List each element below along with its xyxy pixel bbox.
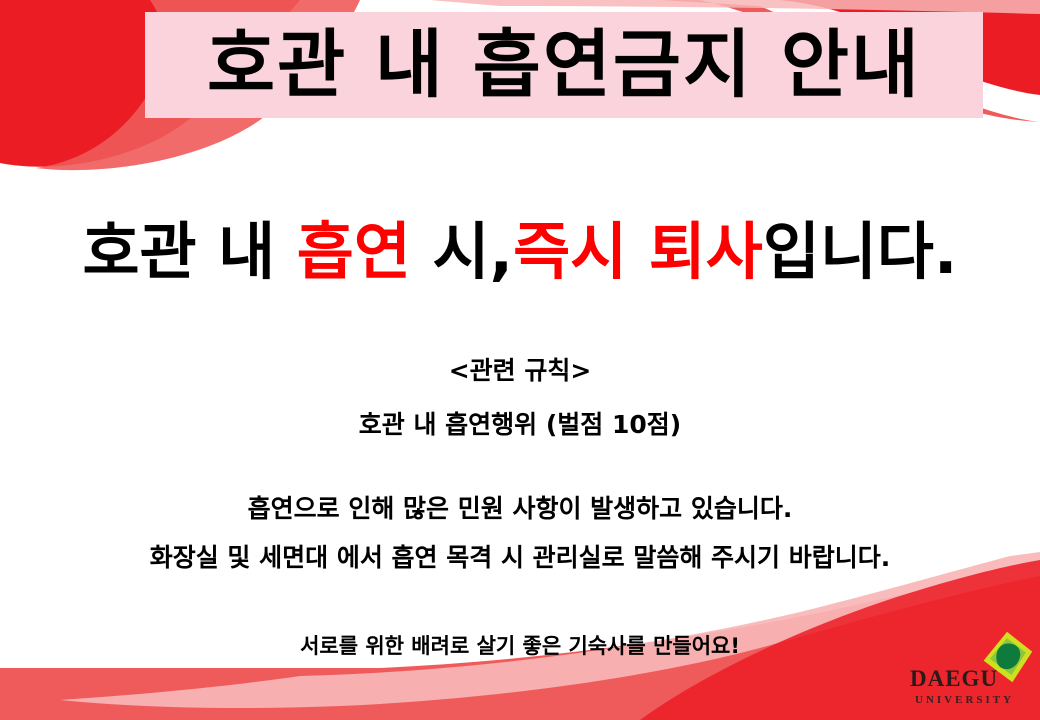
daegu-university-logo: DAEGU UNIVERSITY xyxy=(910,632,1032,710)
closing-slogan: 서로를 위한 배려로 살기 좋은 기숙사를 만들어요! xyxy=(0,630,1040,660)
rules-heading: <관련 규칙> xyxy=(0,352,1040,390)
notice-line-complaints: 흡연으로 인해 많은 민원 사항이 발생하고 있습니다. xyxy=(0,496,1040,521)
headline: 호관 내 흡연 시,즉시 퇴사입니다. xyxy=(0,218,1040,286)
headline-segment-3: 시, xyxy=(411,215,513,288)
logo-wordmark: DAEGU xyxy=(910,666,998,692)
title-banner: 호관 내 흡연금지 안내 xyxy=(145,12,983,118)
notice-line-report: 화장실 및 세면대 에서 흡연 목격 시 관리실로 말씀해 주시기 바랍니다. xyxy=(0,545,1040,570)
poster-canvas: 호관 내 흡연금지 안내 호관 내 흡연 시,즉시 퇴사입니다. <관련 규칙>… xyxy=(0,0,1040,720)
rules-body: 호관 내 흡연행위 (벌점 10점) xyxy=(0,406,1040,444)
page-title: 호관 내 흡연금지 안내 xyxy=(207,28,921,102)
headline-segment-1: 호관 내 xyxy=(82,215,296,288)
related-rules-block: <관련 규칙> 호관 내 흡연행위 (벌점 10점) xyxy=(0,352,1040,443)
notice-block: 흡연으로 인해 많은 민원 사항이 발생하고 있습니다. 화장실 및 세면대 에… xyxy=(0,496,1040,594)
headline-emphasis-immediate-eviction: 즉시 퇴사 xyxy=(513,215,763,288)
headline-emphasis-smoking: 흡연 xyxy=(297,215,411,288)
logo-subtitle: UNIVERSITY xyxy=(915,694,1014,706)
headline-segment-5: 입니다. xyxy=(763,215,958,288)
